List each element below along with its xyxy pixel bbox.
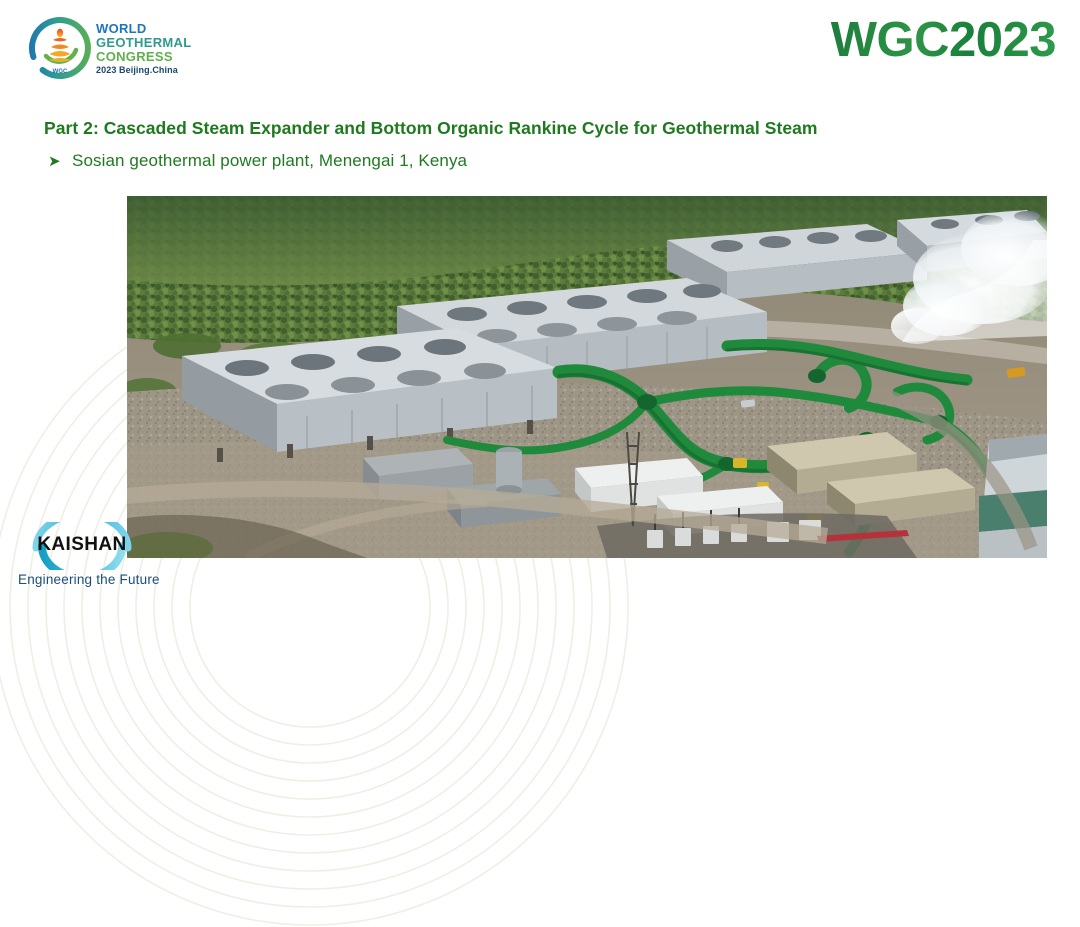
kaishan-tagline: Engineering the Future (18, 572, 168, 587)
plant-aerial-photo (127, 196, 1047, 558)
bullet-item: ➤ Sosian geothermal power plant, Menenga… (48, 151, 818, 171)
logo-text-world: WORLD (96, 22, 191, 35)
title-block: Part 2: Cascaded Steam Expander and Bott… (44, 118, 818, 171)
svg-text:KAISHAN: KAISHAN (37, 534, 126, 555)
wgc-congress-logo: WGC WORLD GEOTHERMAL CONGRESS 2023 Beiji… (28, 14, 170, 82)
logo-text-congress: CONGRESS (96, 50, 191, 63)
wgc-circular-emblem-icon: WGC (28, 16, 92, 80)
kaishan-brand-mark-icon: KAISHAN (18, 522, 146, 570)
kaishan-logo: KAISHAN Engineering the Future (18, 522, 168, 594)
bullet-item-label: Sosian geothermal power plant, Menengai … (72, 151, 467, 171)
wgc2023-wordmark: WGC2023 (831, 16, 1056, 65)
logo-text-location: 2023 Beijing.China (96, 66, 191, 75)
page-title: Part 2: Cascaded Steam Expander and Bott… (44, 118, 818, 139)
arrow-bullet-icon: ➤ (48, 154, 72, 169)
logo-text-geothermal: GEOTHERMAL (96, 36, 191, 49)
svg-text:WGC: WGC (53, 69, 68, 75)
slide-header: WGC WORLD GEOTHERMAL CONGRESS 2023 Beiji… (0, 0, 1080, 96)
